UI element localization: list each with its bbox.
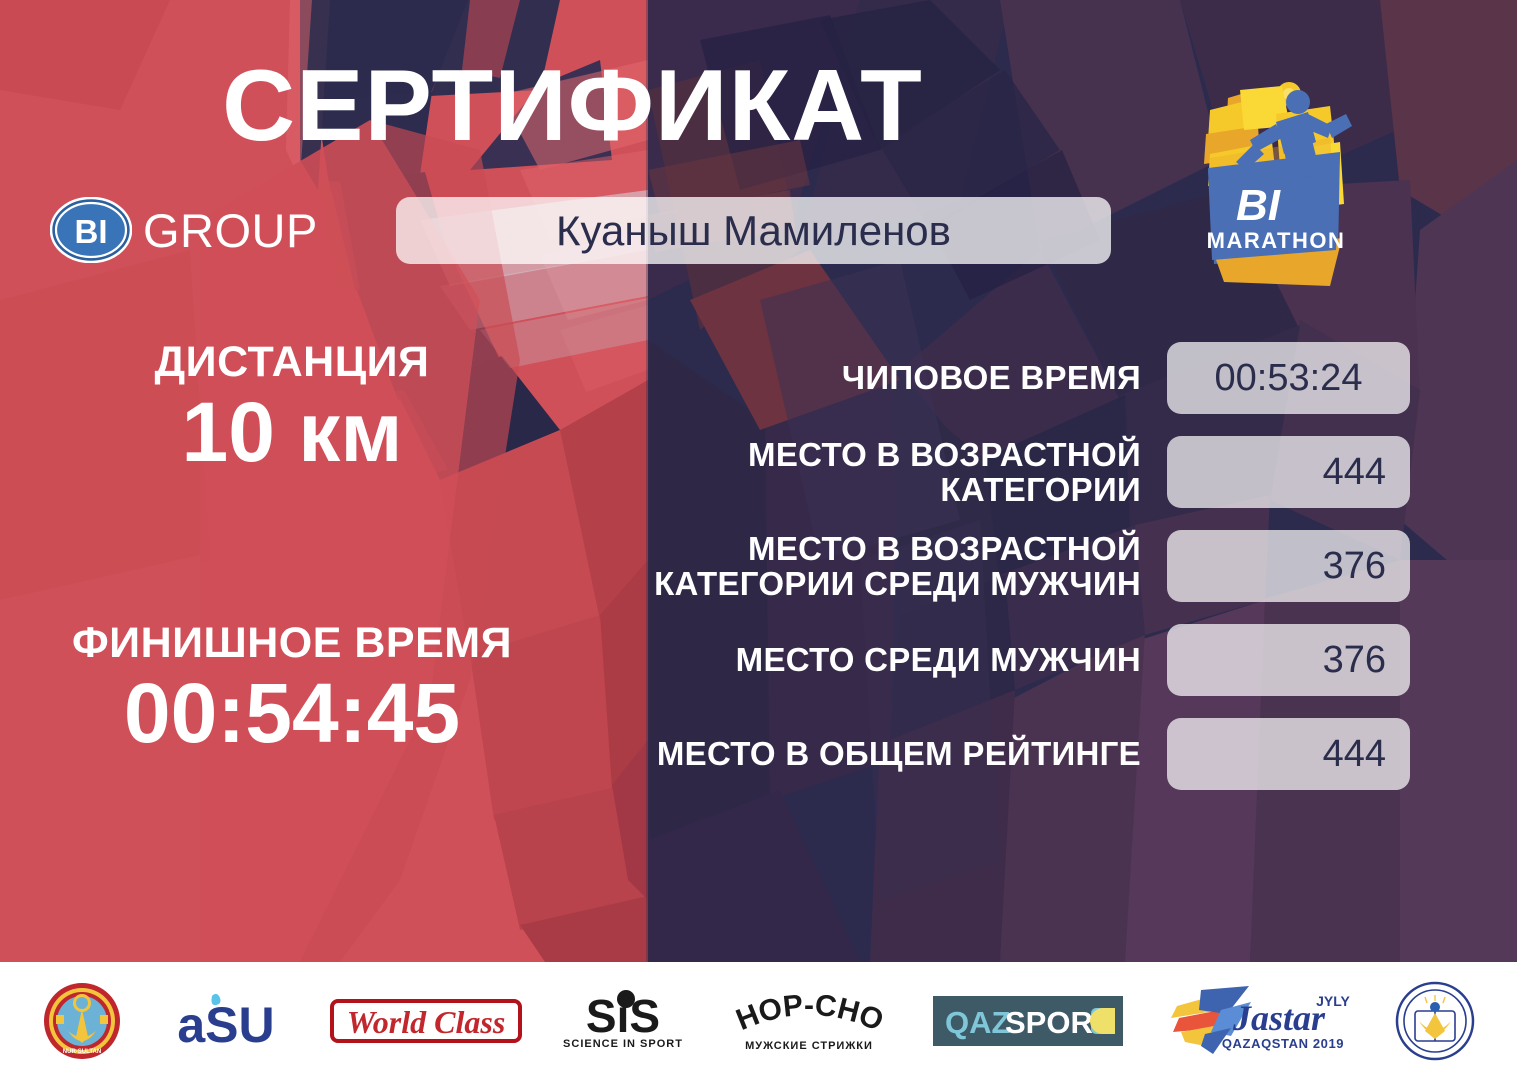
page-title: СЕРТИФИКАТ	[0, 56, 1145, 157]
sponsor-sis: SiS SCIENCE IN SPORT	[560, 973, 686, 1069]
sponsor-bar: NUR-SULTAN aSU World Class SiS SCIENCE I…	[0, 962, 1517, 1080]
participant-name: Куаныш Мамиленов	[556, 210, 951, 252]
sponsor-qazsport-text-qaz: QAZ	[945, 1005, 1011, 1040]
sponsor-asu: aSU	[160, 973, 292, 1069]
right-stats-column: ЧИПОВОЕ ВРЕМЯ 00:53:24 МЕСТО В ВОЗРАСТНО…	[600, 342, 1410, 812]
svg-text:MARATHON: MARATHON	[1207, 228, 1346, 253]
left-stats-column: ДИСТАНЦИЯ 10 км ФИНИШНОЕ ВРЕМЯ 00:54:45	[12, 340, 572, 757]
stat-overall-place-value: 444	[1167, 718, 1410, 790]
stat-age-category-place: МЕСТО В ВОЗРАСТНОЙ КАТЕГОРИИ 444	[600, 436, 1410, 508]
stat-men-place: МЕСТО СРЕДИ МУЖЧИН 376	[600, 624, 1410, 696]
bi-marathon-logo: BI MARATHON	[1180, 68, 1380, 298]
sponsor-jastar-superscript: JYLY	[1316, 993, 1350, 1009]
sponsor-jastar-text: Jastar	[1232, 998, 1326, 1038]
sponsor-qazsport: QAZ SPORT	[933, 973, 1123, 1069]
sponsor-world-class-text: World Class	[346, 1004, 505, 1040]
sponsor-asu-text: aSU	[177, 997, 274, 1052]
stat-overall-place: МЕСТО В ОБЩЕМ РЕЙТИНГЕ 444	[600, 718, 1410, 790]
sponsor-ministry-of-culture-and-sport	[1395, 973, 1475, 1069]
sponsor-chop-chop: CHOP-CHOP МУЖСКИЕ СТРИЖКИ	[723, 973, 895, 1069]
stat-age-category-men-place: МЕСТО В ВОЗРАСТНОЙ КАТЕГОРИИ СРЕДИ МУЖЧИ…	[600, 530, 1410, 602]
sponsor-sis-tagline: SCIENCE IN SPORT	[563, 1038, 683, 1050]
bi-group-wordmark: GROUP	[143, 207, 318, 254]
stat-finish-time-label: ФИНИШНОЕ ВРЕМЯ	[12, 621, 572, 667]
stat-chip-time-value: 00:53:24	[1167, 342, 1410, 414]
stat-overall-place-label: МЕСТО В ОБЩЕМ РЕЙТИНГЕ	[600, 736, 1167, 771]
stat-age-category-men-place-value: 376	[1167, 530, 1410, 602]
certificate-canvas: СЕРТИФИКАТ BI GROUP Куаныш Мамиленов	[0, 0, 1517, 1080]
sponsor-jastar-jyly: Jastar JYLY QAZAQSTAN 2019	[1161, 973, 1357, 1069]
stat-men-place-label: МЕСТО СРЕДИ МУЖЧИН	[600, 642, 1167, 677]
stat-distance-value: 10 км	[12, 390, 572, 476]
sponsor-jastar-tagline: QAZAQSTAN 2019	[1222, 1036, 1344, 1051]
sponsor-world-class: World Class	[330, 973, 522, 1069]
sponsor-nur-sultan-emblem: NUR-SULTAN	[42, 973, 122, 1069]
stat-men-place-value: 376	[1167, 624, 1410, 696]
sponsor-nur-sultan-text: NUR-SULTAN	[63, 1049, 101, 1055]
svg-text:BI: BI	[1236, 181, 1281, 230]
stat-age-category-place-label: МЕСТО В ВОЗРАСТНОЙ КАТЕГОРИИ	[600, 437, 1167, 508]
bi-group-logo: BI GROUP	[50, 197, 318, 263]
participant-name-plate: Куаныш Мамиленов	[396, 197, 1111, 264]
sponsor-chop-chop-tagline: МУЖСКИЕ СТРИЖКИ	[745, 1040, 873, 1052]
sponsor-sis-text: SiS	[585, 990, 659, 1042]
stat-chip-time: ЧИПОВОЕ ВРЕМЯ 00:53:24	[600, 342, 1410, 414]
stat-chip-time-label: ЧИПОВОЕ ВРЕМЯ	[600, 360, 1167, 395]
svg-text:BI: BI	[75, 213, 108, 250]
stat-finish-time-value: 00:54:45	[12, 671, 572, 757]
stat-distance: ДИСТАНЦИЯ 10 км	[12, 340, 572, 475]
bi-group-mark-icon: BI	[50, 197, 132, 263]
sponsor-chop-chop-text: CHOP-CHOP	[723, 989, 888, 1038]
stat-age-category-place-value: 444	[1167, 436, 1410, 508]
stat-age-category-men-place-label: МЕСТО В ВОЗРАСТНОЙ КАТЕГОРИИ СРЕДИ МУЖЧИ…	[600, 531, 1167, 602]
stat-finish-time: ФИНИШНОЕ ВРЕМЯ 00:54:45	[12, 621, 572, 756]
stat-distance-label: ДИСТАНЦИЯ	[12, 340, 572, 386]
